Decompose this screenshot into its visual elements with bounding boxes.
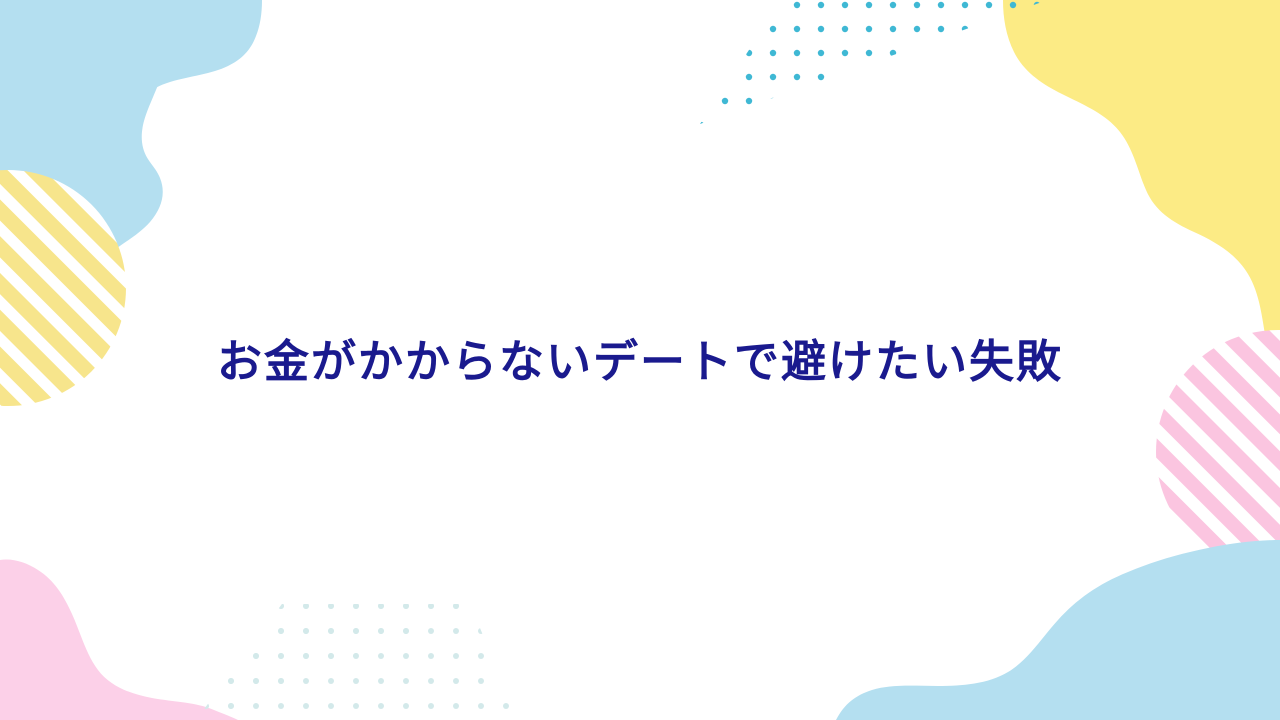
title-card-canvas: お金がかからないデートで避けたい失敗 bbox=[0, 0, 1280, 720]
page-title: お金がかからないデートで避けたい失敗 bbox=[217, 334, 1063, 390]
title-container: お金がかからないデートで避けたい失敗 bbox=[0, 0, 1280, 720]
